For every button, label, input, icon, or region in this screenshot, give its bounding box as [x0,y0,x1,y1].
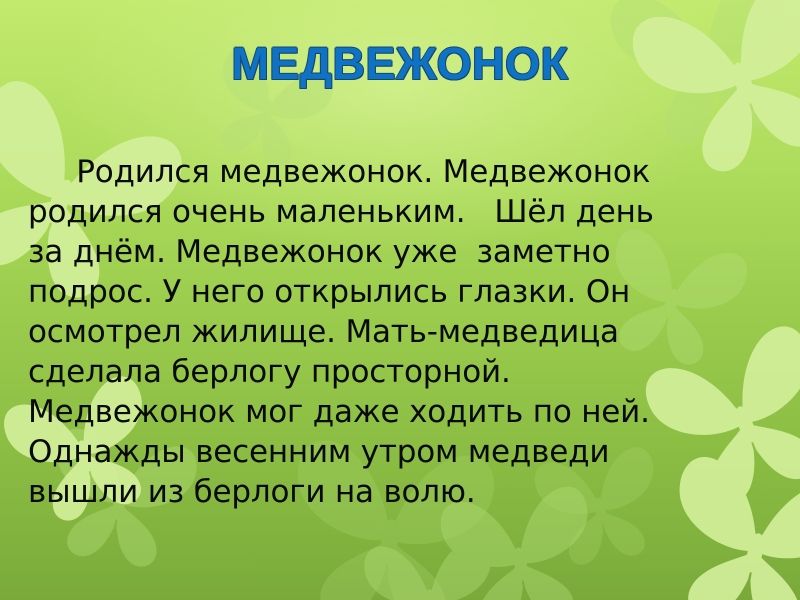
body-line: за днём. Медвежонок уже заметно [28,232,772,272]
body-line: осмотрел жилище. Мать-медведица [28,312,772,352]
body-line: родился очень маленьким. Шёл день [28,192,772,232]
slide-content: МЕДВЕЖОНОК Родился медвежонок. Медвежоно… [0,0,800,600]
body-line: сделала берлогу просторной. [28,352,772,392]
slide-body-text: Родился медвежонок. Медвежонок родился о… [28,152,772,512]
body-line: Родился медвежонок. Медвежонок [28,152,772,192]
slide-title: МЕДВЕЖОНОК [0,38,800,90]
body-line: Однажды весенним утром медведи [28,432,772,472]
body-line: подрос. У него открылись глазки. Он [28,272,772,312]
body-line: вышли из берлоги на волю. [28,472,772,512]
presentation-slide: МЕДВЕЖОНОК Родился медвежонок. Медвежоно… [0,0,800,600]
body-line: Медвежонок мог даже ходить по ней. [28,392,772,432]
